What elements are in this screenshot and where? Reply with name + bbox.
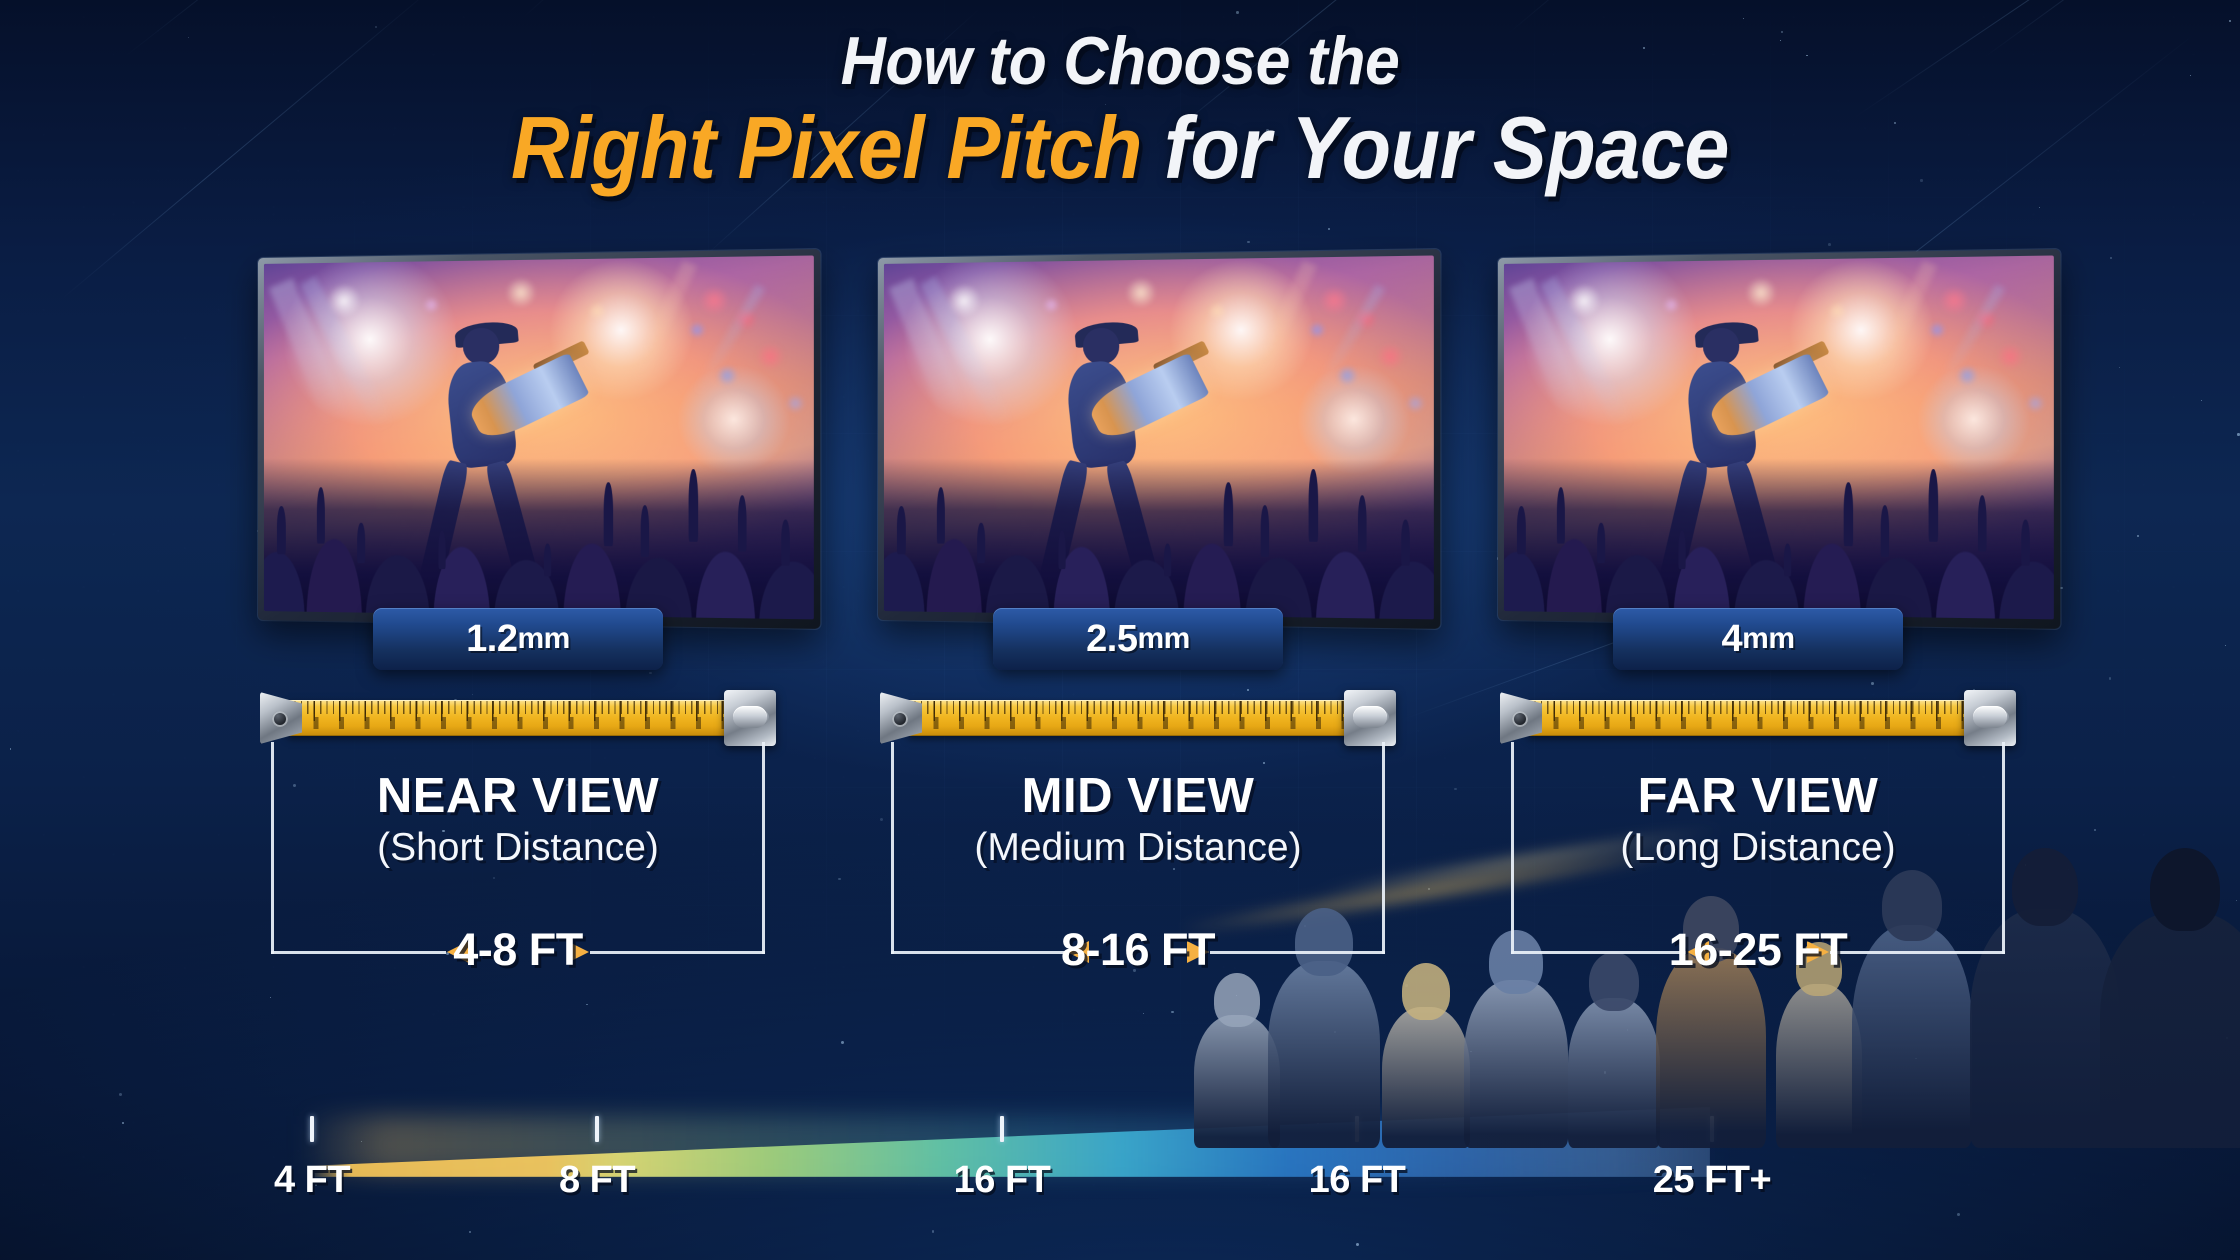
person-body — [1568, 998, 1660, 1148]
raised-hand — [2021, 519, 2030, 565]
distance-bracket-2: MID VIEW (Medium Distance) 8-16 FT — [891, 742, 1385, 954]
view-subtitle-2: (Medium Distance) — [891, 826, 1385, 870]
raised-hand — [1678, 530, 1685, 569]
raised-hand — [544, 544, 551, 577]
raised-hand — [640, 505, 648, 557]
tape-minor-ticks — [288, 701, 746, 714]
view-distance-3: 16-25 FT — [1511, 924, 2005, 976]
tape-minor-ticks — [1528, 701, 1986, 714]
raised-hand — [604, 482, 613, 546]
axis-tick — [595, 1116, 599, 1142]
spark-dot — [2237, 433, 2239, 435]
view-distance-1: 4-8 FT — [271, 924, 765, 976]
spark-dot — [2060, 587, 2063, 590]
tv-bezel — [1498, 249, 2060, 629]
raised-hand — [738, 496, 747, 552]
raised-hand — [1784, 544, 1791, 577]
raised-hand — [1058, 530, 1065, 569]
bokeh-light — [1828, 302, 1847, 321]
view-title-3: FAR VIEW — [1511, 768, 2005, 824]
spark-dot — [10, 748, 12, 750]
raised-hand — [1224, 482, 1233, 546]
raised-hand — [977, 523, 985, 563]
spark-dot — [1247, 241, 1250, 244]
spark-dot — [2110, 257, 2112, 259]
person-head — [2012, 848, 2078, 926]
raised-hand — [897, 506, 906, 554]
bokeh-light — [1745, 277, 1776, 308]
page-title: How to Choose the Right Pixel Pitch for … — [0, 24, 2240, 196]
tape-numbers — [1528, 717, 1986, 729]
pitch-unit: mm — [517, 622, 569, 656]
bokeh-light — [1125, 277, 1156, 308]
pixel-pitch-badge-3: 4mm — [1613, 608, 1903, 670]
axis-tick-label: 4 FT — [274, 1159, 350, 1202]
crowd-silhouette — [264, 458, 814, 619]
axis-tick-label: 16 FT — [954, 1159, 1051, 1202]
distance-bracket-1: NEAR VIEW (Short Distance) 4-8 FT — [271, 742, 765, 954]
spark-dot — [2201, 400, 2202, 401]
axis-tick-label: 16 FT — [1309, 1159, 1406, 1202]
bokeh-light — [2025, 394, 2045, 413]
spark-dot — [2094, 829, 2096, 831]
tape-case-icon — [1344, 690, 1396, 746]
spark-dot — [2225, 645, 2226, 646]
spark-dot — [838, 878, 840, 880]
bokeh-light — [588, 302, 607, 321]
tape-case-icon — [724, 690, 776, 746]
pixel-pitch-badge-2: 2.5mm — [993, 608, 1283, 670]
tv-screen-content — [1504, 255, 2054, 619]
raised-hand — [1358, 496, 1367, 552]
tv-screen-content — [884, 255, 1434, 619]
view-subtitle-3: (Long Distance) — [1511, 826, 2005, 870]
person-body — [1464, 980, 1568, 1148]
spark-dot — [1454, 788, 1456, 790]
title-rest-text: for Your Space — [1142, 98, 1729, 197]
audience-person — [1568, 952, 1660, 1148]
spark-dot — [1328, 228, 1330, 230]
raised-hand — [317, 487, 325, 543]
view-subtitle-1: (Short Distance) — [271, 826, 765, 870]
axis-tick-label: 8 FT — [559, 1159, 635, 1202]
spark-dot — [2109, 677, 2112, 680]
pitch-number: 1.2 — [466, 618, 517, 661]
tape-numbers — [908, 717, 1366, 729]
tape-band — [1528, 700, 1986, 736]
measuring-tape-icon — [260, 690, 776, 746]
pitch-unit: mm — [1742, 622, 1794, 656]
tape-knob — [754, 710, 769, 725]
raised-hand — [1844, 482, 1853, 546]
measuring-tape-icon — [1500, 690, 2016, 746]
raised-hand — [1929, 469, 1939, 542]
spark-dot — [2119, 367, 2120, 368]
raised-hand — [1597, 523, 1605, 563]
audience-person — [2100, 848, 2240, 1148]
bokeh-light — [505, 277, 536, 308]
tv-bezel — [258, 249, 820, 629]
person-head — [2150, 848, 2220, 931]
raised-hand — [1880, 505, 1888, 557]
bokeh-light — [1208, 302, 1227, 321]
raised-hand — [1309, 469, 1319, 542]
raised-hand — [1164, 544, 1171, 577]
head-shape — [1703, 328, 1740, 364]
display-screen-2[interactable] — [878, 249, 1440, 629]
title-line-2: Right Pixel Pitch for Your Space — [90, 100, 2151, 196]
pitch-number: 2.5 — [1086, 618, 1137, 661]
distance-bracket-3: FAR VIEW (Long Distance) 16-25 FT — [1511, 742, 2005, 954]
view-title-2: MID VIEW — [891, 768, 1385, 824]
distance-scale-section: 4 FT8 FT16 FT16 FT25 FT+ — [0, 960, 2240, 1260]
axis-tick-label: 25 FT+ — [1653, 1159, 1771, 1202]
tape-knob — [1374, 710, 1389, 725]
raised-hand — [357, 523, 365, 563]
tv-screen-content — [264, 255, 814, 619]
view-title-1: NEAR VIEW — [271, 768, 765, 824]
tape-band — [288, 700, 746, 736]
pixel-pitch-badge-1: 1.2mm — [373, 608, 663, 670]
raised-hand — [1260, 505, 1268, 557]
raised-hand — [781, 519, 790, 565]
raised-hand — [1401, 519, 1410, 565]
title-line-1: How to Choose the — [90, 24, 2151, 98]
person-body — [1656, 948, 1766, 1148]
spark-dot — [1871, 682, 1874, 685]
bokeh-light — [1405, 394, 1425, 413]
person-body — [2100, 912, 2240, 1148]
person-head — [1402, 963, 1450, 1020]
spark-dot — [2137, 535, 2139, 537]
raised-hand — [937, 487, 945, 543]
tape-knob — [1994, 710, 2009, 725]
tape-band — [908, 700, 1366, 736]
crowd-silhouette — [884, 458, 1434, 619]
spark-dot — [2229, 20, 2231, 22]
title-accent-text: Right Pixel Pitch — [511, 98, 1142, 197]
display-screen-3[interactable] — [1498, 249, 2060, 629]
person-body — [1268, 961, 1380, 1148]
audience-person — [1382, 963, 1470, 1148]
raised-hand — [438, 530, 445, 569]
raised-hand — [277, 506, 286, 554]
spark-dot — [1743, 18, 1744, 19]
axis-tick — [1000, 1116, 1004, 1142]
tape-numbers — [288, 717, 746, 729]
person-body — [1382, 1007, 1470, 1148]
spark-dot — [2039, 207, 2040, 208]
raised-hand — [1517, 506, 1526, 554]
person-body — [1776, 984, 1862, 1148]
tape-case-icon — [1964, 690, 2016, 746]
measuring-tape-icon — [880, 690, 1396, 746]
head-shape — [1083, 328, 1120, 364]
spark-dot — [880, 818, 883, 821]
crowd-silhouette — [1504, 458, 2054, 619]
raised-hand — [689, 469, 699, 542]
person-head — [1214, 973, 1260, 1027]
tape-minor-ticks — [908, 701, 1366, 714]
pitch-number: 4 — [1722, 618, 1743, 661]
spark-dot — [649, 672, 652, 675]
raised-hand — [1557, 487, 1565, 543]
axis-tick — [310, 1116, 314, 1142]
pitch-unit: mm — [1137, 622, 1189, 656]
view-distance-2: 8-16 FT — [891, 924, 1385, 976]
raised-hand — [1978, 496, 1987, 552]
head-shape — [463, 328, 500, 364]
spark-dot — [1828, 243, 1831, 246]
tv-bezel — [878, 249, 1440, 629]
display-screen-1[interactable] — [258, 249, 820, 629]
spark-dot — [1236, 11, 1239, 14]
bokeh-light — [785, 394, 805, 413]
